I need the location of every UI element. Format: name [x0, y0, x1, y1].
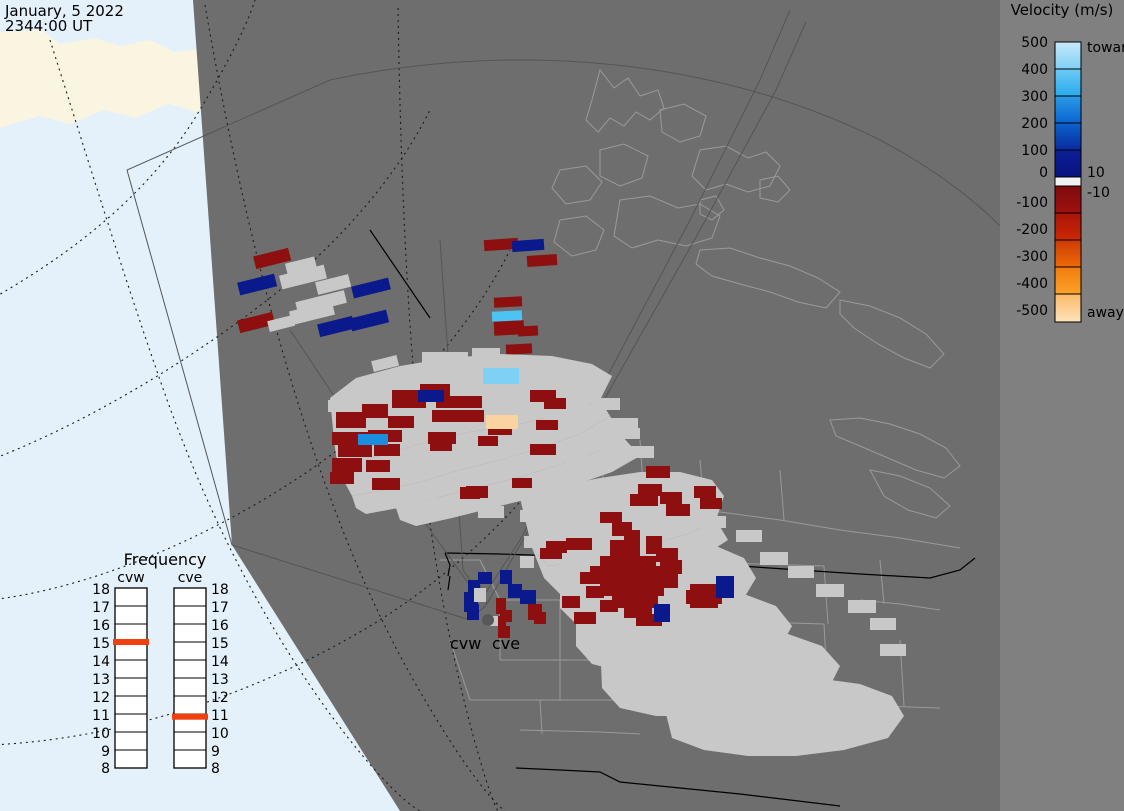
- colorbar-swatches: [1055, 42, 1081, 322]
- cell: [460, 487, 480, 499]
- svg-text:17: 17: [92, 600, 110, 616]
- svg-text:18: 18: [92, 582, 110, 598]
- frequency-bar-cve: [172, 588, 208, 768]
- svg-text:300: 300: [1021, 89, 1048, 105]
- svg-text:-300: -300: [1016, 249, 1048, 265]
- svg-text:12: 12: [92, 690, 110, 706]
- svg-text:9: 9: [101, 744, 110, 760]
- svg-text:500: 500: [1021, 35, 1048, 51]
- colorbar-label-negative-threshold: -10: [1087, 185, 1110, 201]
- svg-text:10: 10: [92, 726, 110, 742]
- svg-text:9: 9: [211, 744, 220, 760]
- svg-text:200: 200: [1021, 116, 1048, 132]
- svg-text:16: 16: [211, 618, 229, 634]
- svg-text:400: 400: [1021, 62, 1048, 78]
- frequency-bar-cvw: [113, 588, 149, 768]
- svg-text:14: 14: [92, 654, 110, 670]
- colorbar-null-band: [1055, 177, 1081, 186]
- svg-text:17: 17: [211, 600, 229, 616]
- colorbar-label-away: away: [1087, 305, 1124, 321]
- svg-text:13: 13: [211, 672, 229, 688]
- svg-text:13: 13: [92, 672, 110, 688]
- frequency-marker-cve: [172, 714, 208, 720]
- svg-text:-200: -200: [1016, 222, 1048, 238]
- radar-label-cve: cve: [492, 634, 520, 653]
- svg-text:-100: -100: [1016, 195, 1048, 211]
- svg-text:10: 10: [211, 726, 229, 742]
- svg-text:100: 100: [1021, 143, 1048, 159]
- svg-text:8: 8: [211, 761, 220, 777]
- radar-site-marker: [482, 614, 494, 626]
- svg-text:12: 12: [211, 690, 229, 706]
- timestamp-time: 2344:00 UT: [5, 17, 93, 35]
- svg-text:14: 14: [211, 654, 229, 670]
- svg-text:15: 15: [92, 636, 110, 652]
- svg-text:8: 8: [101, 761, 110, 777]
- radar-label-cvw: cvw: [450, 634, 481, 653]
- frequency-header-cvw: cvw: [117, 570, 144, 586]
- svg-text:-400: -400: [1016, 276, 1048, 292]
- colorbar-label-toward: toward: [1087, 40, 1124, 56]
- svg-text:16: 16: [92, 618, 110, 634]
- frequency-title: Frequency: [124, 550, 207, 569]
- frequency-header-cve: cve: [178, 570, 203, 586]
- svg-text:18: 18: [211, 582, 229, 598]
- map-area: cvw cve: [0, 0, 1124, 811]
- figure-canvas: cvw cve January, 5 2022 2344:00 UT Frequ…: [0, 0, 1124, 811]
- radar-map-figure: cvw cve January, 5 2022 2344:00 UT Frequ…: [0, 0, 1124, 811]
- svg-text:15: 15: [211, 636, 229, 652]
- colorbar-title: Velocity (m/s): [1011, 1, 1114, 19]
- svg-text:11: 11: [211, 708, 229, 724]
- svg-text:0: 0: [1039, 165, 1048, 181]
- svg-text:-500: -500: [1016, 303, 1048, 319]
- frequency-marker-cvw: [113, 639, 149, 645]
- colorbar-label-positive-threshold: 10: [1087, 165, 1105, 181]
- svg-text:11: 11: [92, 708, 110, 724]
